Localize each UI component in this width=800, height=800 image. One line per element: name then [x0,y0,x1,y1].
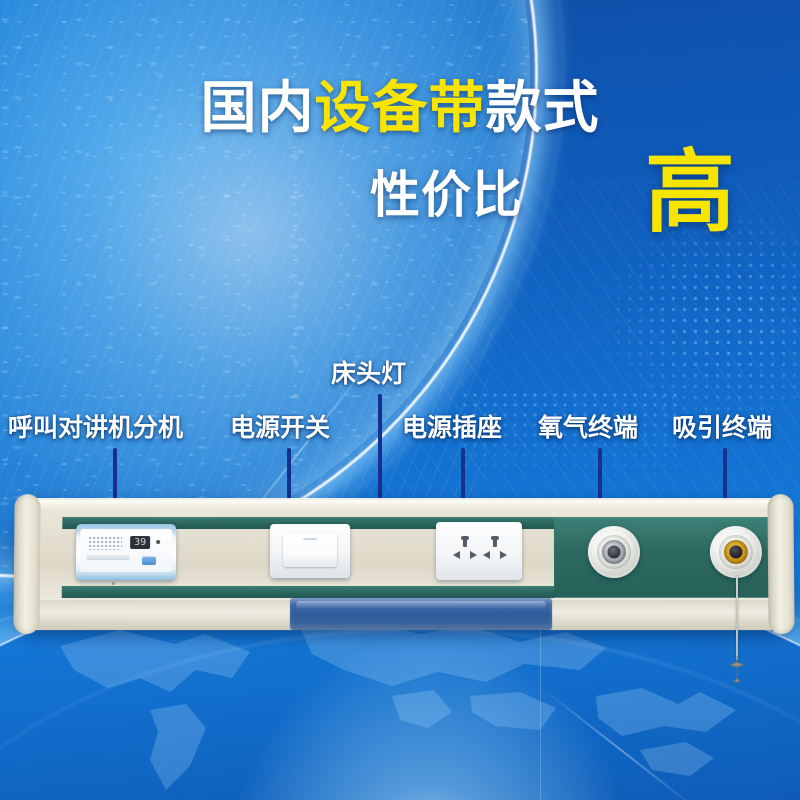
panel-end-cap-right [767,494,794,634]
socket-outlet-left[interactable] [452,538,478,564]
intercom-slot [86,555,130,560]
intercom-call-button[interactable] [142,556,156,565]
callout-label-suction-outlet: 吸引终端 [672,414,772,443]
callout-label-power-switch: 电源开关 [230,414,330,443]
callout-label-oxygen-outlet: 氧气终端 [538,414,638,443]
oxygen-terminal-port [607,546,620,559]
socket-outlet-right[interactable] [482,538,508,564]
socket-slot-right-icon [470,551,477,559]
power-socket-plate[interactable] [436,522,522,580]
suction-hose-cord [736,576,738,660]
bed-lamp-highlight [296,601,546,609]
power-switch-rocker[interactable] [283,533,337,567]
callout-label-bed-lamp: 床头灯 [331,360,406,389]
suction-terminal-port [729,546,742,559]
callout-label-power-socket: 电源插座 [402,414,502,443]
promo-banner: 国内设备带款式 性价比 高 呼叫对讲机分机 电源开关 床头灯 电源插座 氧气终端… [0,0,800,800]
speaker-grille-icon [88,536,122,550]
socket-slot-left-icon [453,551,460,559]
power-switch-plate[interactable] [270,524,350,578]
status-led-icon [156,540,160,544]
socket-slot-right-icon [500,551,507,559]
oxygen-terminal-collar [597,535,631,569]
intercom-faceplate: 39 [80,529,172,572]
suction-terminal-collar [719,535,753,569]
socket-earth-pin-icon [463,538,467,547]
panel-body: 39 [17,498,790,630]
oxygen-terminal-ring [602,540,626,564]
socket-slot-left-icon [483,551,490,559]
medical-bedhead-unit: 39 [18,498,790,638]
callout-label-intercom: 呼叫对讲机分机 [8,414,183,443]
intercom-display: 39 [130,536,150,549]
nurse-call-intercom[interactable]: 39 [76,524,176,580]
bed-lamp-diffuser[interactable] [290,598,552,630]
panel-top-bevel [26,500,781,511]
oxygen-terminal-outlet[interactable] [588,526,640,578]
suction-terminal-outlet[interactable] [710,526,762,578]
socket-earth-pin-icon [493,538,497,547]
panel-end-cap-left [13,494,40,634]
callout-group: 呼叫对讲机分机 电源开关 床头灯 电源插座 氧气终端 吸引终端 [0,0,800,800]
switch-indicator-line [303,538,317,540]
panel-screw-a [112,582,115,585]
suction-terminal-ring [724,540,748,564]
suction-hose-hook-icon [728,656,746,684]
